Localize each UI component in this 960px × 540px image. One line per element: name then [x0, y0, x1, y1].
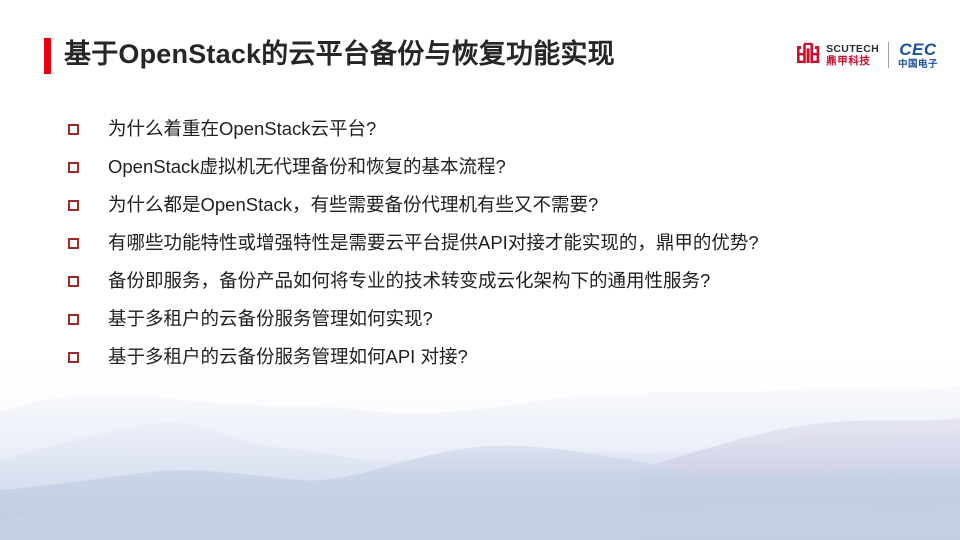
list-item: 基于多租户的云备份服务管理如何实现? — [0, 300, 960, 338]
list-item-label: 备份即服务，备份产品如何将专业的技术转变成云化架构下的通用性服务? — [108, 262, 710, 300]
list-item: 为什么着重在OpenStack云平台? — [0, 110, 960, 148]
list-item-label: 有哪些功能特性或增强特性是需要云平台提供API对接才能实现的，鼎甲的优势? — [108, 224, 759, 262]
list-item-label: 为什么都是OpenStack，有些需要备份代理机有些又不需要? — [108, 186, 598, 224]
scutech-wordmark: SCUTECH 鼎甲科技 — [826, 44, 879, 67]
logo-divider — [888, 42, 889, 68]
scutech-emblem-icon — [795, 42, 821, 68]
cec-english-label: CEC — [899, 41, 936, 58]
list-item-label: 基于多租户的云备份服务管理如何API 对接? — [108, 338, 468, 376]
list-item-label: 基于多租户的云备份服务管理如何实现? — [108, 300, 433, 338]
list-item: 有哪些功能特性或增强特性是需要云平台提供API对接才能实现的，鼎甲的优势? — [0, 224, 960, 262]
list-item: OpenStack虚拟机无代理备份和恢复的基本流程? — [0, 148, 960, 186]
square-bullet-icon — [68, 314, 79, 325]
logo-cluster: SCUTECH 鼎甲科技 CEC 中国电子 — [795, 38, 938, 72]
list-item: 备份即服务，备份产品如何将专业的技术转变成云化架构下的通用性服务? — [0, 262, 960, 300]
slide-root: 基于OpenStack的云平台备份与恢复功能实现 — [0, 0, 960, 540]
scutech-logo: SCUTECH 鼎甲科技 — [795, 40, 879, 70]
bottom-divider — [0, 532, 960, 533]
square-bullet-icon — [68, 124, 79, 135]
scutech-english-label: SCUTECH — [826, 44, 879, 55]
list-item: 基于多租户的云备份服务管理如何API 对接? — [0, 338, 960, 376]
square-bullet-icon — [68, 162, 79, 173]
scutech-chinese-label: 鼎甲科技 — [826, 56, 879, 67]
agenda-bullet-list: 为什么着重在OpenStack云平台? OpenStack虚拟机无代理备份和恢复… — [0, 110, 960, 376]
square-bullet-icon — [68, 276, 79, 287]
page-title: 基于OpenStack的云平台备份与恢复功能实现 — [64, 34, 615, 74]
list-item-label: 为什么着重在OpenStack云平台? — [108, 110, 376, 148]
square-bullet-icon — [68, 238, 79, 249]
list-item: 为什么都是OpenStack，有些需要备份代理机有些又不需要? — [0, 186, 960, 224]
list-item-label: OpenStack虚拟机无代理备份和恢复的基本流程? — [108, 148, 506, 186]
square-bullet-icon — [68, 200, 79, 211]
cec-logo: CEC 中国电子 — [898, 41, 938, 70]
square-bullet-icon — [68, 352, 79, 363]
title-accent-bar — [44, 38, 51, 74]
cec-chinese-label: 中国电子 — [898, 60, 938, 70]
